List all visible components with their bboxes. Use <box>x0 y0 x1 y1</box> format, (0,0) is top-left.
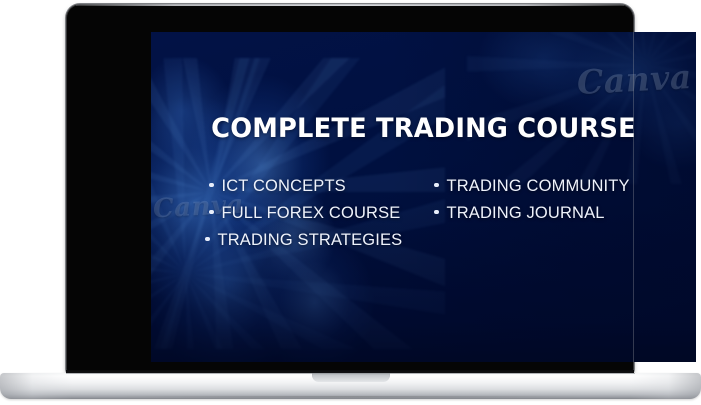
laptop-screen: Canva Canva COMPLETE TRADING COURSE ICT … <box>151 32 696 362</box>
slide-title: COMPLETE TRADING COURSE <box>159 116 688 143</box>
laptop-lid: Canva Canva COMPLETE TRADING COURSE ICT … <box>66 4 634 374</box>
laptop-mockup: Canva Canva COMPLETE TRADING COURSE ICT … <box>0 0 701 405</box>
laptop-lid-notch <box>312 373 390 382</box>
bullet-item: FULL FOREX COURSE <box>209 200 434 227</box>
bullet-item: ICT CONCEPTS <box>209 173 434 200</box>
bullet-item: TRADING JOURNAL <box>434 200 684 227</box>
bullet-dot-icon <box>205 237 210 242</box>
bullet-item-label: TRADING STRATEGIES <box>218 227 403 254</box>
slide-content: COMPLETE TRADING COURSE ICT CONCEPTS FUL… <box>151 32 696 362</box>
bullet-dot-icon <box>209 210 214 215</box>
bullet-item-label: ICT CONCEPTS <box>222 173 346 200</box>
bullet-item-label: FULL FOREX COURSE <box>222 200 401 227</box>
bullet-column-right: TRADING COMMUNITY TRADING JOURNAL <box>434 173 684 227</box>
bullet-item-label: TRADING JOURNAL <box>447 200 605 227</box>
bullet-item: TRADING STRATEGIES <box>205 227 434 254</box>
bullet-column-left: ICT CONCEPTS FULL FOREX COURSE TRADING S… <box>209 173 434 254</box>
bullet-dot-icon <box>209 183 214 188</box>
bullet-item: TRADING COMMUNITY <box>434 173 684 200</box>
bullet-columns: ICT CONCEPTS FULL FOREX COURSE TRADING S… <box>209 173 689 254</box>
bullet-dot-icon <box>434 210 439 215</box>
bullet-item-label: TRADING COMMUNITY <box>447 173 630 200</box>
bullet-dot-icon <box>434 183 439 188</box>
